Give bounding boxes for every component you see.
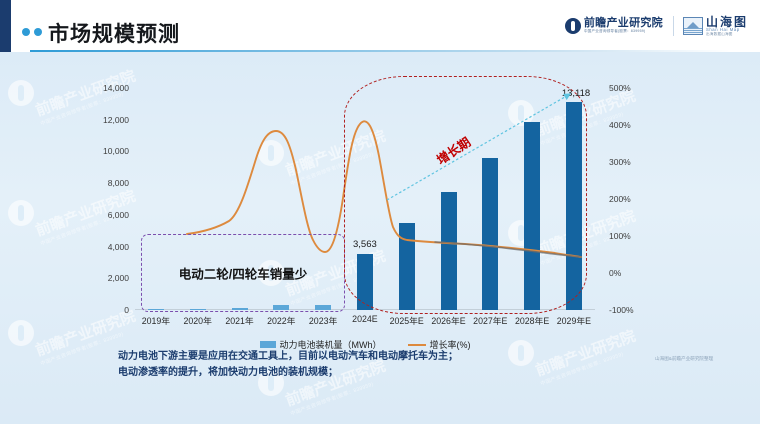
x-axis-tick-2025E: 2025年E xyxy=(390,314,424,327)
y2-axis-tick: 400% xyxy=(609,120,631,130)
x-axis-tick-2023: 2023年 xyxy=(309,314,337,327)
annotation-label-early-period: 电动二轮/四轮车销量少 xyxy=(179,264,307,283)
chart-plot-area: 14,000 12,000 10,000 8,000 6,000 4,000 2… xyxy=(135,88,595,310)
slide-caption: 动力电池下游主要是应用在交通工具上，目前以电动汽车和电动摩托车为主； 电动渗透率… xyxy=(118,349,638,380)
y2-axis-tick: 500% xyxy=(609,83,631,93)
chart-source-note: 山海图&前瞻产业研究院整理 xyxy=(655,356,713,362)
x-axis-tick-2019: 2019年 xyxy=(142,314,170,327)
x-axis-tick-2029E: 2029年E xyxy=(557,314,591,327)
x-axis-tick-2026E: 2026年E xyxy=(431,314,465,327)
y-axis-tick: 2,000 xyxy=(108,273,129,283)
y2-axis-tick: 300% xyxy=(609,157,631,167)
logo-qianzhan: 前瞻产业研究院 中国产业咨询领导者(股票：839959) xyxy=(565,18,663,34)
bullet-dot-icon xyxy=(34,28,42,36)
x-axis-tick-2027E: 2027年E xyxy=(473,314,507,327)
bullet-dot-icon xyxy=(22,28,30,36)
page-header: 市场规模预测 前瞻产业研究院 中国产业咨询领导者(股票：839959) 山海图 … xyxy=(0,0,760,52)
x-axis-tick-2028E: 2028年E xyxy=(515,314,549,327)
y2-axis-tick: 200% xyxy=(609,194,631,204)
y-axis-tick: 6,000 xyxy=(108,210,129,220)
qianzhan-logo-icon xyxy=(565,18,581,34)
page-title: 市场规模预测 xyxy=(48,18,180,48)
x-axis-tick-2024E: 2024E xyxy=(352,314,377,324)
y2-axis-tick: 100% xyxy=(609,231,631,241)
slide-body: 前瞻产业研究院中国产业咨询领导者(股票：839959) 前瞻产业研究院中国产业咨… xyxy=(0,52,760,424)
x-axis-tick-2020: 2020年 xyxy=(184,314,212,327)
legend-bar-swatch xyxy=(260,341,276,348)
qianzhan-logo-subtitle: 中国产业咨询领导者(股票：839959) xyxy=(584,30,663,34)
y2-axis-tick: -100% xyxy=(609,305,634,315)
x-axis-tick-2021: 2021年 xyxy=(225,314,253,327)
y2-axis-tick: 0% xyxy=(609,268,621,278)
y-axis-tick: 14,000 xyxy=(103,83,129,93)
header-accent-bar xyxy=(0,0,11,52)
caption-line-1: 动力电池下游主要是应用在交通工具上，目前以电动汽车和电动摩托车为主； xyxy=(118,349,638,365)
legend-line-swatch xyxy=(408,344,426,346)
y-axis-tick: 4,000 xyxy=(108,242,129,252)
shanhaimap-logo-subtitle: 出海数据山海图 xyxy=(706,33,748,37)
y-axis-tick: 8,000 xyxy=(108,178,129,188)
logo-shanhaimap: 山海图 Shan Hai Map 出海数据山海图 xyxy=(673,16,748,37)
watermark-ring-icon xyxy=(8,200,34,226)
logo-zone: 前瞻产业研究院 中国产业咨询领导者(股票：839959) 山海图 Shan Ha… xyxy=(565,10,748,42)
y-axis-tick: 10,000 xyxy=(103,146,129,156)
caption-line-2: 电动渗透率的提升，将加快动力电池的装机规模； xyxy=(118,365,638,381)
shanhaimap-logo-icon xyxy=(683,17,703,35)
watermark-ring-icon xyxy=(8,320,34,346)
x-axis-tick-2022: 2022年 xyxy=(267,314,295,327)
y-axis-tick: 0 xyxy=(124,305,129,315)
market-size-forecast-chart: 14,000 12,000 10,000 8,000 6,000 4,000 2… xyxy=(95,80,655,370)
y-axis-tick: 12,000 xyxy=(103,115,129,125)
watermark-ring-icon xyxy=(8,80,34,106)
